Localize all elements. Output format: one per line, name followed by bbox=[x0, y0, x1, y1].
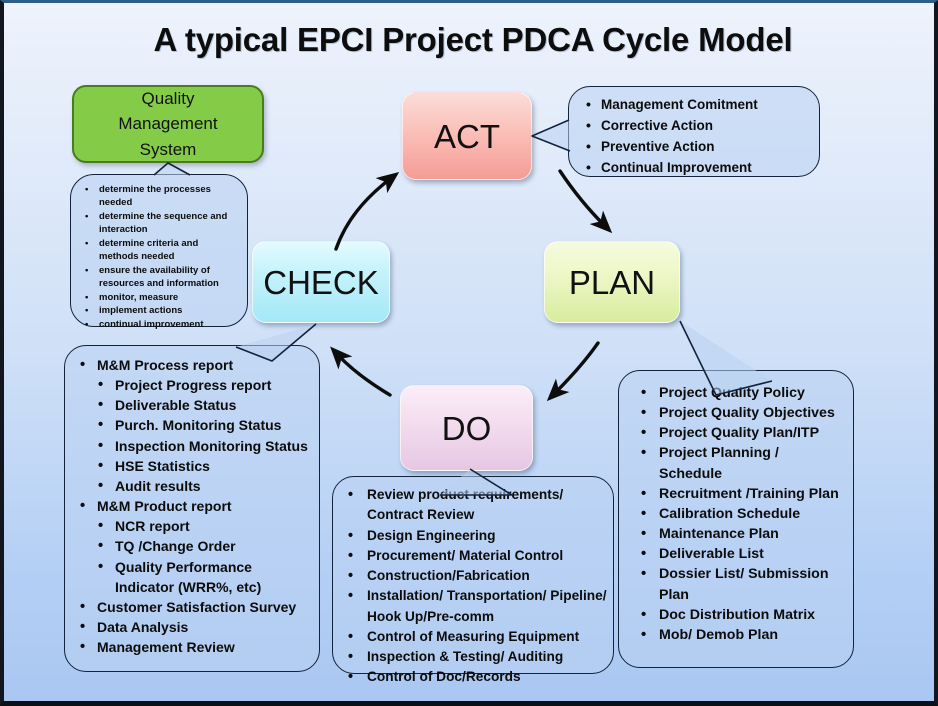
list-item: HSE Statistics bbox=[79, 456, 313, 476]
list-item: Corrective Action bbox=[579, 116, 813, 137]
qms-line-3: System bbox=[140, 137, 197, 163]
list-item: determine the sequence and interaction bbox=[77, 210, 239, 237]
slide-canvas: A typical EPCI Project PDCA Cycle Model … bbox=[0, 0, 938, 706]
list-item: Management Review bbox=[79, 637, 313, 657]
callout-quality-management-system: determine the processes neededdetermine … bbox=[70, 174, 248, 327]
callout-plan: Project Quality PolicyProject Quality Ob… bbox=[618, 370, 854, 668]
list-item: Project Progress report bbox=[79, 375, 313, 395]
list-item: Design Engineering bbox=[347, 526, 607, 546]
list-item: Deliverable List bbox=[639, 544, 845, 564]
list-item: Procurement/ Material Control bbox=[347, 546, 607, 566]
list-item: Management Comitment bbox=[579, 95, 813, 116]
list-item: Project Planning / Schedule bbox=[639, 443, 845, 483]
callout-do: Review product requirements/ Contract Re… bbox=[332, 476, 614, 674]
list-item: determine the processes needed bbox=[77, 183, 239, 210]
list-item: Installation/ Transportation/ Pipeline/ … bbox=[347, 586, 607, 627]
list-item: Mob/ Demob Plan bbox=[639, 625, 845, 645]
callout-check: M&M Process reportProject Progress repor… bbox=[64, 345, 320, 672]
list-item: Recruitment /Training Plan bbox=[639, 484, 845, 504]
arrow-act-to-plan bbox=[560, 171, 604, 225]
list-item: Purch. Monitoring Status bbox=[79, 415, 313, 435]
pdca-box-act[interactable]: ACT bbox=[402, 92, 532, 180]
pdca-label-plan: PLAN bbox=[569, 266, 655, 299]
quality-management-system-box: Quality Management System bbox=[72, 85, 264, 163]
list-item: Doc Distribution Matrix bbox=[639, 605, 845, 625]
list-item: TQ /Change Order bbox=[79, 536, 313, 556]
list-item: Dossier List/ Submission Plan bbox=[639, 564, 845, 604]
slide-inner: A typical EPCI Project PDCA Cycle Model … bbox=[4, 3, 934, 701]
pdca-box-plan[interactable]: PLAN bbox=[544, 241, 680, 323]
list-item: M&M Process report bbox=[79, 355, 313, 375]
list-item: Customer Satisfaction Survey bbox=[79, 597, 313, 617]
qms-line-2: Management bbox=[118, 111, 217, 137]
check-callout-list: M&M Process reportProject Progress repor… bbox=[79, 355, 313, 657]
act-callout-list: Management ComitmentCorrective ActionPre… bbox=[579, 95, 813, 179]
list-item: ensure the availability of resources and… bbox=[77, 264, 239, 291]
list-item: implement actions bbox=[77, 304, 239, 317]
list-item: Data Analysis bbox=[79, 617, 313, 637]
pdca-label-act: ACT bbox=[434, 120, 500, 153]
arrow-check-to-act bbox=[336, 179, 390, 249]
do-callout-list: Review product requirements/ Contract Re… bbox=[347, 485, 607, 688]
list-item: Construction/Fabrication bbox=[347, 566, 607, 586]
pdca-box-check[interactable]: CHECK bbox=[252, 241, 390, 323]
list-item: M&M Product report bbox=[79, 496, 313, 516]
qms-callout-list: determine the processes neededdetermine … bbox=[77, 183, 239, 331]
list-item: monitor, measure bbox=[77, 291, 239, 304]
list-item: NCR report bbox=[79, 516, 313, 536]
list-item: Maintenance Plan bbox=[639, 524, 845, 544]
list-item: Calibration Schedule bbox=[639, 504, 845, 524]
page-title: A typical EPCI Project PDCA Cycle Model bbox=[4, 21, 938, 59]
list-item: Control of Measuring Equipment bbox=[347, 627, 607, 647]
list-item: Continual Improvement bbox=[579, 158, 813, 179]
list-item: Preventive Action bbox=[579, 137, 813, 158]
list-item: Inspection Monitoring Status bbox=[79, 436, 313, 456]
list-item: Control of Doc/Records bbox=[347, 667, 607, 687]
pdca-box-do[interactable]: DO bbox=[400, 385, 533, 471]
list-item: Project Quality Policy bbox=[639, 383, 845, 403]
list-item: Review product requirements/ Contract Re… bbox=[347, 485, 607, 526]
callout-act: Management ComitmentCorrective ActionPre… bbox=[568, 86, 820, 177]
tail-act bbox=[532, 120, 570, 151]
plan-callout-list: Project Quality PolicyProject Quality Ob… bbox=[639, 383, 845, 645]
arrow-plan-to-do bbox=[555, 343, 598, 393]
list-item: Quality Performance Indicator (WRR%, etc… bbox=[79, 557, 313, 597]
qms-line-1: Quality bbox=[142, 86, 195, 112]
list-item: Project Quality Plan/ITP bbox=[639, 423, 845, 443]
list-item: continual improvement bbox=[77, 318, 239, 331]
pdca-label-check: CHECK bbox=[263, 266, 379, 299]
list-item: Audit results bbox=[79, 476, 313, 496]
list-item: determine criteria and methods needed bbox=[77, 237, 239, 264]
list-item: Inspection & Testing/ Auditing bbox=[347, 647, 607, 667]
arrow-do-to-check bbox=[338, 355, 390, 395]
list-item: Deliverable Status bbox=[79, 395, 313, 415]
pdca-label-do: DO bbox=[442, 412, 492, 445]
list-item: Project Quality Objectives bbox=[639, 403, 845, 423]
